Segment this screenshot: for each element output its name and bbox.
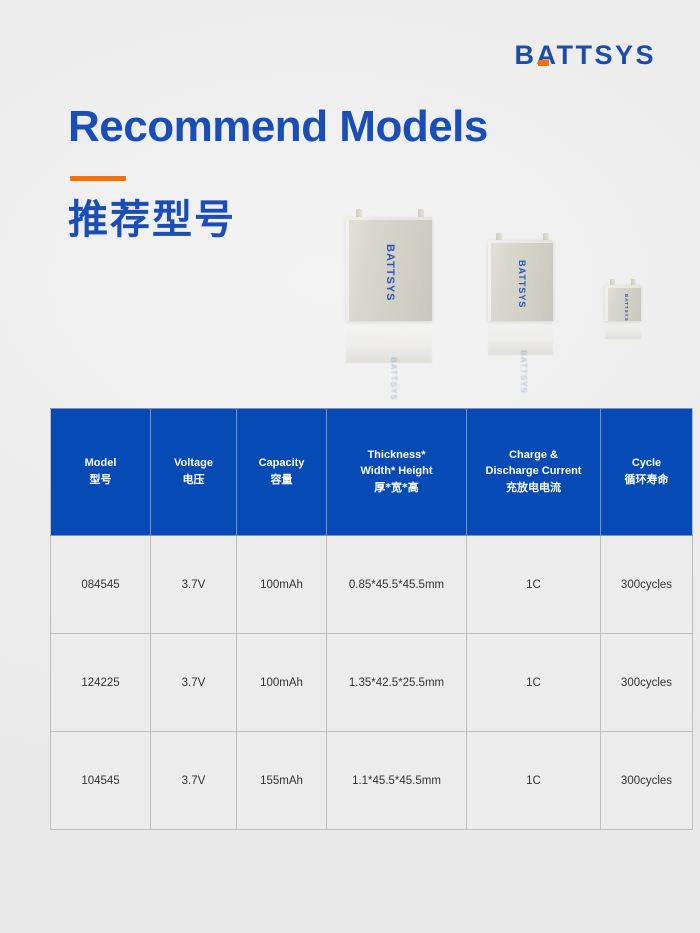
cell-voltage: 3.7V	[151, 732, 237, 830]
cell-dimensions: 1.1*45.5*45.5mm	[327, 732, 467, 830]
recommend-models-table: Model 型号 Voltage 电压 Capacity 容量 Thicknes…	[50, 408, 693, 830]
page-title-en: Recommend Models	[68, 104, 488, 150]
column-header-dimensions-en-line2: Width* Height	[330, 464, 463, 480]
cell-capacity: 100mAh	[237, 634, 327, 732]
column-header-current: Charge & Discharge Current 充放电电流	[467, 409, 601, 536]
cell-cycle: 300cycles	[601, 634, 693, 732]
cell-current: 1C	[467, 732, 601, 830]
column-header-capacity-en: Capacity	[240, 456, 323, 472]
column-header-dimensions-cn: 厚*宽*高	[330, 480, 463, 496]
cell-brand-label: BATTSYS	[624, 294, 629, 322]
table-row: 104545 3.7V 155mAh 1.1*45.5*45.5mm 1C 30…	[51, 732, 693, 830]
column-header-dimensions-en-line1: Thickness*	[330, 448, 463, 464]
column-header-cycle-cn: 循环寿命	[604, 472, 689, 488]
column-header-current-en-line1: Charge &	[470, 448, 597, 464]
battery-cell-medium: BATTSYS BATTSYS	[488, 209, 553, 321]
column-header-voltage-en: Voltage	[154, 456, 233, 472]
brand-logo-text: BATTSYS	[514, 40, 656, 70]
column-header-dimensions: Thickness* Width* Height 厚*宽*高	[327, 409, 467, 536]
column-header-cycle-en: Cycle	[604, 456, 689, 472]
cell-dimensions: 1.35*42.5*25.5mm	[327, 634, 467, 732]
cell-current: 1C	[467, 536, 601, 634]
column-header-current-en-line2: Discharge Current	[470, 464, 597, 480]
column-header-voltage-cn: 电压	[154, 472, 233, 488]
battery-cell-small: BATTSYS	[605, 209, 641, 321]
column-header-current-cn: 充放电电流	[470, 480, 597, 496]
cell-model: 104545	[51, 732, 151, 830]
cell-capacity: 100mAh	[237, 536, 327, 634]
title-divider-rule	[70, 176, 126, 181]
cell-brand-label: BATTSYS	[517, 260, 527, 308]
cell-capacity: 155mAh	[237, 732, 327, 830]
cell-reflection: BATTSYS	[488, 321, 553, 355]
cell-dimensions: 0.85*45.5*45.5mm	[327, 536, 467, 634]
table-row: 084545 3.7V 100mAh 0.85*45.5*45.5mm 1C 3…	[51, 536, 693, 634]
brand-logo: BATTSYS	[514, 42, 656, 69]
cell-model: 124225	[51, 634, 151, 732]
cell-cycle: 300cycles	[601, 732, 693, 830]
column-header-capacity-cn: 容量	[240, 472, 323, 488]
cell-reflection-label: BATTSYS	[389, 357, 398, 401]
page-title-cn: 推荐型号	[68, 198, 236, 242]
column-header-model-cn: 型号	[54, 472, 147, 488]
cell-edge-highlight	[605, 285, 641, 321]
cell-cycle: 300cycles	[601, 536, 693, 634]
table-header-row: Model 型号 Voltage 电压 Capacity 容量 Thicknes…	[51, 409, 693, 536]
column-header-cycle: Cycle 循环寿命	[601, 409, 693, 536]
cell-reflection: BATTSYS	[346, 321, 432, 363]
cell-body: BATTSYS	[488, 240, 553, 321]
column-header-capacity: Capacity 容量	[237, 409, 327, 536]
cell-reflection-label: BATTSYS	[519, 350, 528, 394]
battery-cell-large: BATTSYS BATTSYS	[346, 209, 432, 321]
cell-current: 1C	[467, 634, 601, 732]
cell-voltage: 3.7V	[151, 536, 237, 634]
cell-body: BATTSYS	[346, 217, 432, 321]
cell-body: BATTSYS	[605, 285, 641, 321]
cell-model: 084545	[51, 536, 151, 634]
table-header: Model 型号 Voltage 电压 Capacity 容量 Thicknes…	[51, 409, 693, 536]
column-header-model-en: Model	[54, 456, 147, 472]
column-header-voltage: Voltage 电压	[151, 409, 237, 536]
cell-reflection	[605, 321, 641, 339]
cell-brand-label: BATTSYS	[384, 244, 396, 302]
page-root: BATTSYS Recommend Models 推荐型号 BATTSYS BA…	[0, 0, 700, 933]
column-header-model: Model 型号	[51, 409, 151, 536]
table-row: 124225 3.7V 100mAh 1.35*42.5*25.5mm 1C 3…	[51, 634, 693, 732]
logo-accent-mark	[538, 60, 549, 66]
table-body: 084545 3.7V 100mAh 0.85*45.5*45.5mm 1C 3…	[51, 536, 693, 830]
cell-voltage: 3.7V	[151, 634, 237, 732]
product-photo-group: BATTSYS BATTSYS BATTSYS BATTSYS BA	[340, 188, 670, 373]
